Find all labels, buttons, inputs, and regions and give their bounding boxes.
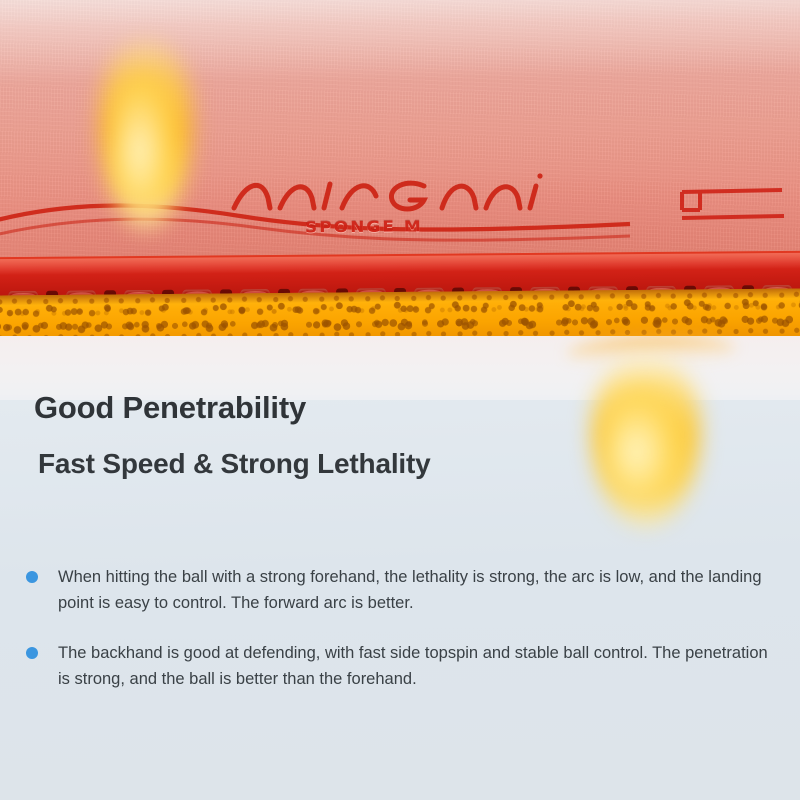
page-title: Good Penetrability <box>34 390 306 426</box>
logo-script-icon <box>228 168 558 214</box>
page-subtitle: Fast Speed & Strong Lethality <box>38 448 430 480</box>
embossed-right-mark-icon <box>678 176 788 228</box>
logo-sponge-text: SPONGE M <box>305 218 423 237</box>
list-item: The backhand is good at defending, with … <box>26 640 786 692</box>
list-item: When hitting the ball with a strong fore… <box>26 564 786 616</box>
list-item-text: When hitting the ball with a strong fore… <box>58 564 783 616</box>
feature-list: When hitting the ball with a strong fore… <box>26 564 786 716</box>
bullet-dot-icon <box>26 571 38 583</box>
bullet-dot-icon <box>26 647 38 659</box>
text-content: Good Penetrability Fast Speed & Strong L… <box>0 372 800 800</box>
ball-top-highlight <box>112 70 178 200</box>
product-feature-banner: SPONGE M <box>0 0 800 800</box>
list-item-text: The backhand is good at defending, with … <box>58 640 783 692</box>
